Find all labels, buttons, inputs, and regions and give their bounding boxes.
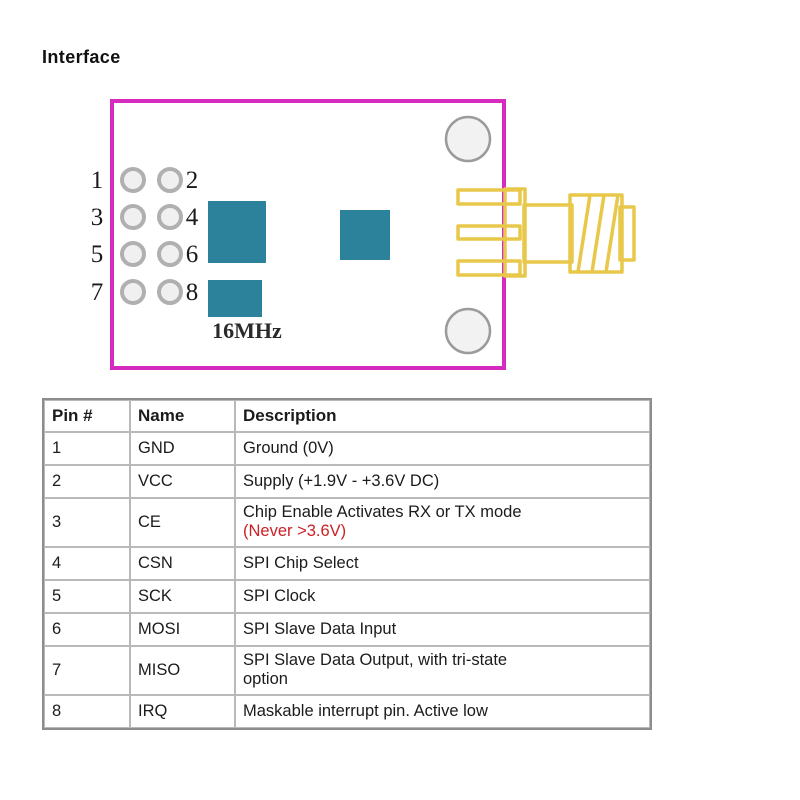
cell-description: Chip Enable Activates RX or TX mode (Nev… — [235, 498, 650, 547]
cell-description: Maskable interrupt pin. Active low — [235, 695, 650, 728]
pin-pad-7 — [122, 281, 144, 303]
cell-description: SPI Clock — [235, 580, 650, 613]
board-diagram: 1 3 5 7 2 4 6 8 16MHz — [0, 85, 800, 385]
pin-number-6: 6 — [186, 241, 199, 268]
pin-number-5: 5 — [91, 241, 104, 268]
table-row: 6 MOSI SPI Slave Data Input — [44, 613, 650, 646]
pin-number-2: 2 — [186, 167, 199, 194]
pinout-table-container: Pin # Name Description 1 GND Ground (0V)… — [42, 398, 652, 730]
cell-pin: 6 — [44, 613, 130, 646]
cell-description: Supply (+1.9V - +3.6V DC) — [235, 465, 650, 498]
cell-name: VCC — [130, 465, 235, 498]
description-text: SPI Slave Data Input — [243, 620, 642, 639]
cell-name: CSN — [130, 547, 235, 580]
mounting-hole-bottom — [446, 309, 490, 353]
pin-pad-8 — [159, 281, 181, 303]
table-row: 7 MISO SPI Slave Data Output, with tri-s… — [44, 646, 650, 695]
pin-number-3: 3 — [91, 204, 104, 231]
description-text: Chip Enable Activates RX or TX mode — [243, 503, 642, 522]
cell-name: GND — [130, 432, 235, 465]
cell-pin: 2 — [44, 465, 130, 498]
cell-description: Ground (0V) — [235, 432, 650, 465]
table-row: 8 IRQ Maskable interrupt pin. Active low — [44, 695, 650, 728]
cell-name: MOSI — [130, 613, 235, 646]
cell-name: MISO — [130, 646, 235, 695]
cell-pin: 8 — [44, 695, 130, 728]
table-header-row: Pin # Name Description — [44, 400, 650, 432]
voltage-regulator-ic — [340, 210, 390, 260]
cell-name: SCK — [130, 580, 235, 613]
page-title: Interface — [42, 47, 121, 68]
cell-pin: 5 — [44, 580, 130, 613]
cell-pin: 1 — [44, 432, 130, 465]
description-text: SPI Chip Select — [243, 554, 642, 573]
cell-pin: 3 — [44, 498, 130, 547]
table-row: 5 SCK SPI Clock — [44, 580, 650, 613]
pinout-table: Pin # Name Description 1 GND Ground (0V)… — [42, 398, 652, 730]
column-header-description: Description — [235, 400, 650, 432]
voltage-warning-text: (Never >3.6V) — [243, 522, 642, 541]
pin-number-8: 8 — [186, 279, 199, 306]
pin-number-7: 7 — [91, 279, 104, 306]
cell-description: SPI Chip Select — [235, 547, 650, 580]
table-row: 1 GND Ground (0V) — [44, 432, 650, 465]
pin-pad-2 — [159, 169, 181, 191]
cell-description: SPI Slave Data Output, with tri-state op… — [235, 646, 650, 695]
description-text: SPI Slave Data Output, with tri-state — [243, 651, 642, 670]
cell-pin: 4 — [44, 547, 130, 580]
description-text: Ground (0V) — [243, 439, 642, 458]
mounting-hole-top — [446, 117, 490, 161]
table-row: 2 VCC Supply (+1.9V - +3.6V DC) — [44, 465, 650, 498]
table-row: 3 CE Chip Enable Activates RX or TX mode… — [44, 498, 650, 547]
pin-number-4: 4 — [186, 204, 199, 231]
crystal-oscillator — [208, 280, 262, 317]
description-text-2: option — [243, 670, 642, 689]
column-header-pin: Pin # — [44, 400, 130, 432]
cell-name: CE — [130, 498, 235, 547]
description-text: Maskable interrupt pin. Active low — [243, 702, 642, 721]
table-row: 4 CSN SPI Chip Select — [44, 547, 650, 580]
pin-number-1: 1 — [91, 167, 104, 194]
pin-pad-4 — [159, 206, 181, 228]
rf-transceiver-ic — [208, 201, 266, 263]
cell-description: SPI Slave Data Input — [235, 613, 650, 646]
cell-name: IRQ — [130, 695, 235, 728]
cell-pin: 7 — [44, 646, 130, 695]
crystal-label: 16MHz — [212, 318, 282, 343]
column-header-name: Name — [130, 400, 235, 432]
pin-pad-6 — [159, 243, 181, 265]
description-text: Supply (+1.9V - +3.6V DC) — [243, 472, 642, 491]
pin-pad-1 — [122, 169, 144, 191]
description-text: SPI Clock — [243, 587, 642, 606]
pin-pad-3 — [122, 206, 144, 228]
pin-pad-5 — [122, 243, 144, 265]
